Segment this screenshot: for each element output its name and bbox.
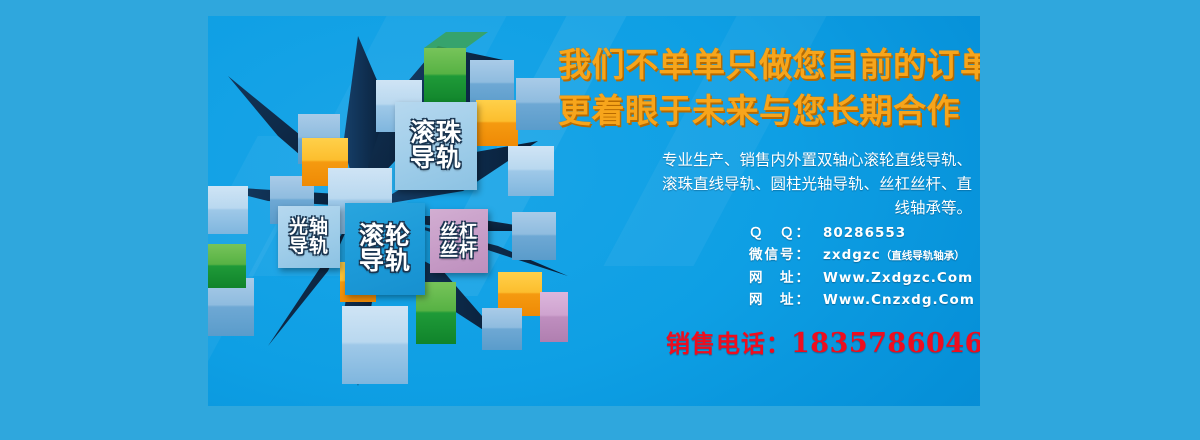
product-label-gunzhu-daogui: 滚珠 导轨 [395, 102, 477, 190]
contact-label: 微信号： [749, 244, 823, 266]
product-label-sigang-sigan: 丝杠 丝杆 [430, 209, 488, 273]
contact-value[interactable]: 80286553 [823, 222, 906, 244]
subtitle-line-2: 滚珠直线导轨、圆柱光轴导轨、丝杠丝杆、直 [642, 172, 972, 196]
subtitle-line-3: 线轴承等。 [642, 196, 972, 220]
contact-label: 网 址： [749, 267, 823, 289]
headline-line-1: 我们不单单只做您目前的订单 [558, 44, 978, 86]
contact-row-website-1: 网 址： Www.Zxdgzc.Com [749, 267, 979, 289]
subtitle-paragraph: 专业生产、销售内外置双轴心滚轮直线导轨、 滚珠直线导轨、圆柱光轴导轨、丝杠丝杆、… [642, 148, 972, 220]
banner-page: 滚珠 导轨 光轴 导轨 滚轮 导轨 丝杠 丝杆 我们不单单只做您目前的订单 更着… [0, 0, 1200, 440]
contact-value[interactable]: Www.Cnzxdg.Com [823, 289, 975, 311]
banner-text-content: 我们不单单只做您目前的订单 更着眼于未来与您长期合作 专业生产、销售内外置双轴心… [544, 16, 980, 406]
product-label-line1: 滚珠 [410, 121, 462, 147]
sales-phone: 销售电话：18357860469 [666, 324, 980, 359]
product-label-line1: 滚轮 [359, 224, 411, 250]
headline: 我们不单单只做您目前的订单 更着眼于未来与您长期合作 [558, 44, 978, 132]
sales-phone-label: 销售电话： [666, 330, 791, 358]
cube-cluster-graphic: 滚珠 导轨 光轴 导轨 滚轮 导轨 丝杠 丝杆 [208, 16, 568, 406]
promo-banner: 滚珠 导轨 光轴 导轨 滚轮 导轨 丝杠 丝杆 我们不单单只做您目前的订单 更着… [208, 16, 980, 406]
product-label-line2: 导轨 [359, 249, 411, 275]
contact-label: 网 址： [749, 289, 823, 311]
product-label-line1: 光轴 [289, 218, 329, 237]
contact-label: Ｑ Ｑ： [749, 222, 823, 244]
product-label-gunlun-daogui: 滚轮 导轨 [345, 203, 425, 295]
product-label-line2: 丝杆 [440, 241, 478, 259]
subtitle-line-1: 专业生产、销售内外置双轴心滚轮直线导轨、 [642, 148, 972, 172]
contact-block: Ｑ Ｑ： 80286553 微信号： zxdgzc （直线导轨轴承） 网 址： … [749, 222, 979, 311]
headline-line-2: 更着眼于未来与您长期合作 [558, 90, 978, 132]
contact-value[interactable]: zxdgzc [823, 244, 881, 266]
contact-note: （直线导轨轴承） [881, 245, 965, 267]
product-label-line1: 丝杠 [440, 223, 478, 241]
product-label-line2: 导轨 [410, 146, 462, 172]
contact-row-wechat: 微信号： zxdgzc （直线导轨轴承） [749, 244, 979, 267]
contact-row-website-2: 网 址： Www.Cnzxdg.Com [749, 289, 979, 311]
sales-phone-number[interactable]: 18357860469 [791, 328, 980, 359]
contact-row-qq: Ｑ Ｑ： 80286553 [749, 222, 979, 244]
product-label-line2: 导轨 [289, 237, 329, 256]
product-label-guangzhou-daogui: 光轴 导轨 [278, 206, 340, 268]
contact-value[interactable]: Www.Zxdgzc.Com [823, 267, 973, 289]
